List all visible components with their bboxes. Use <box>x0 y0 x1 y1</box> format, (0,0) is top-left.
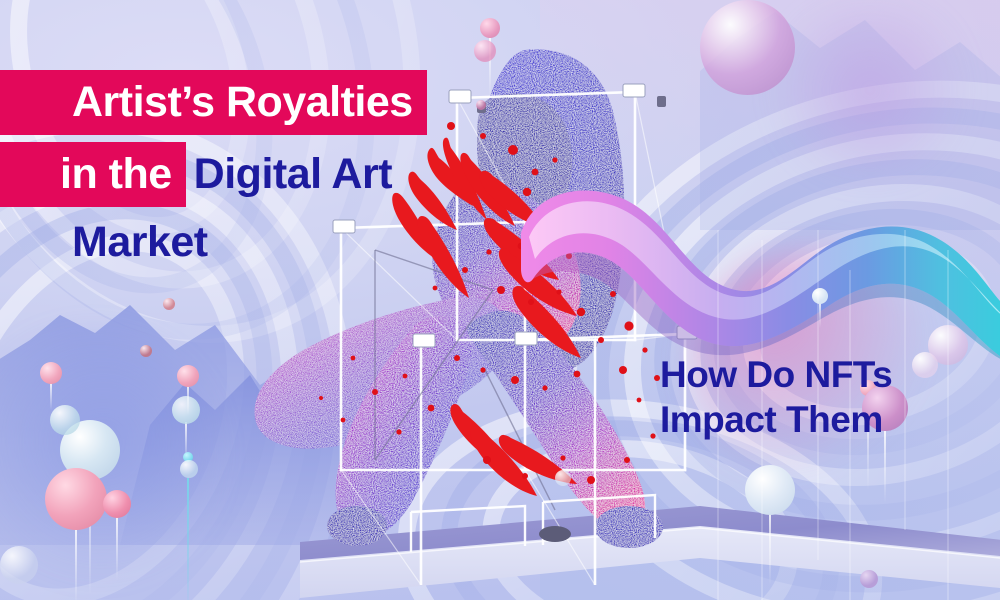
headline-plain-market: Market <box>0 221 620 264</box>
headline-line-2: in the Digital Art <box>0 142 620 207</box>
bubble <box>50 405 80 435</box>
headline-highlight-secondary: in the <box>0 142 186 207</box>
lollipop-sphere <box>40 362 62 410</box>
headline-line-1: Artist’s Royalties <box>0 70 620 135</box>
bubble <box>180 460 198 478</box>
bubble <box>140 345 152 357</box>
headline-highlight-primary: Artist’s Royalties <box>0 70 427 135</box>
nft-royalties-banner: Artist’s Royalties in the Digital Art Ma… <box>0 0 1000 600</box>
subheadline-line-2: Impact Them <box>660 397 892 442</box>
bubble <box>700 0 795 95</box>
soft-blob-violet <box>760 0 980 180</box>
subheadline-block: How Do NFTs Impact Them <box>660 352 892 442</box>
bubble <box>163 298 175 310</box>
lollipop-sphere <box>103 490 131 580</box>
headline-block: Artist’s Royalties in the Digital Art Ma… <box>0 70 620 264</box>
lollipop-sphere <box>177 365 199 415</box>
bubble <box>555 470 571 486</box>
subheadline-line-1: How Do NFTs <box>660 352 892 397</box>
headline-plain-digital-art: Digital Art <box>194 153 392 196</box>
bubble <box>474 40 496 62</box>
lollipop-sphere <box>45 468 107 600</box>
bubble <box>0 546 38 584</box>
